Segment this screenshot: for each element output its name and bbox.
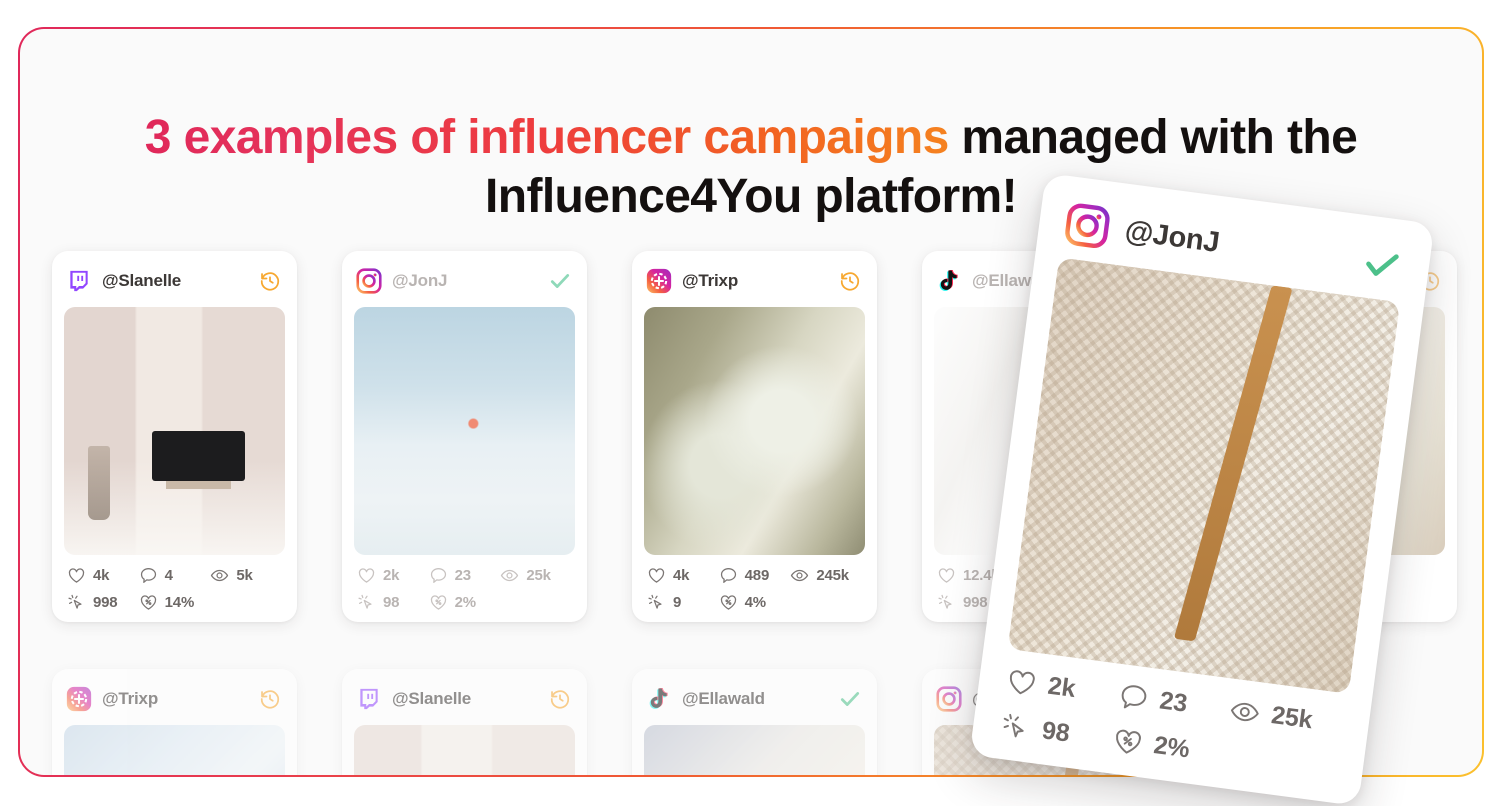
eye-icon [790,566,809,585]
likes-stat: 4k [67,566,139,585]
views-stat-value: 25k [526,567,550,584]
views-stat-value: 25k [1270,701,1315,735]
engagement-rate-icon [139,593,158,612]
influencer-handle: @Trixp [682,271,829,291]
heart-icon [357,566,376,585]
heart-icon [937,566,956,585]
click-icon [67,593,86,612]
card-header: @Ellawald [644,681,865,717]
views-stat: 5k [210,566,282,585]
engagement-rate-icon [1110,725,1145,760]
likes-stat-value: 4k [673,567,689,584]
views-stat-value: 5k [236,567,252,584]
twitch-icon [66,268,92,294]
card-header: @Trixp [644,263,865,299]
comments-stat-value: 4 [165,567,173,584]
click-icon [937,593,956,612]
history-icon [839,270,861,292]
influencer-card[interactable]: @Ellawald [632,669,877,775]
check-icon [1361,243,1404,286]
influencer-handle: @Slanelle [102,271,249,291]
check-icon [839,688,861,710]
comments-stat: 23 [429,566,501,585]
clicks-stat: 98 [357,593,429,612]
likes-stat-value: 2k [1046,672,1077,704]
highlighted-influencer-card[interactable]: @JonJ 2k 23 25k 98 2% [969,173,1434,806]
comments-stat-value: 23 [1158,686,1189,718]
clicks-stat-value: 998 [963,594,987,611]
click-icon [357,593,376,612]
views-stat: 245k [790,566,862,585]
heart-icon [647,566,666,585]
clicks-stat-value: 98 [383,594,399,611]
post-thumbnail[interactable] [64,725,285,775]
card-stats: 4k 4 5k 998 14% [64,566,285,612]
comment-icon [139,566,158,585]
card-stats: 2k 23 25k 98 2% [354,566,575,612]
tiktok-icon [646,686,672,712]
influencer-handle: @Trixp [102,689,249,709]
comments-stat-value: 489 [745,567,769,584]
history-icon [259,270,281,292]
engagement-stat: 2% [429,593,501,612]
comment-icon [429,566,448,585]
card-header: @Trixp [64,681,285,717]
post-thumbnail[interactable] [354,725,575,775]
comments-stat: 4 [139,566,211,585]
click-icon [647,593,666,612]
clicks-stat-value: 9 [673,594,681,611]
likes-stat: 2k [1004,665,1120,710]
engagement-stat: 2% [1110,725,1226,770]
instagram-icon [936,686,962,712]
influencer-card[interactable]: @Trixp [52,669,297,775]
history-icon [259,688,281,710]
engagement-stat-value: 2% [455,594,476,611]
check-icon [549,270,571,292]
likes-stat: 2k [357,566,429,585]
history-icon [549,688,571,710]
influencer-card[interactable]: @Slanelle 4k 4 5k 998 14% [52,251,297,622]
post-thumbnail[interactable] [644,307,865,555]
influencer-handle: @Ellawald [682,689,829,709]
card-stats: 4k 489 245k 9 4% [644,566,865,612]
tiktok-icon [936,268,962,294]
eye-icon [210,566,229,585]
instagram-icon [1063,201,1112,250]
views-stat: 25k [500,566,572,585]
instagram-stories-icon [646,268,672,294]
post-thumbnail[interactable] [354,307,575,555]
comments-stat: 23 [1116,680,1232,725]
heart-icon [1004,665,1039,700]
comment-icon [719,566,738,585]
twitch-icon [356,686,382,712]
engagement-stat-value: 2% [1152,731,1191,764]
card-header: @Slanelle [64,263,285,299]
heart-icon [67,566,86,585]
post-thumbnail[interactable] [64,307,285,555]
instagram-stories-icon [66,686,92,712]
likes-stat: 4k [647,566,719,585]
comments-stat: 489 [719,566,791,585]
clicks-stat: 9 [647,593,719,612]
comment-icon [1116,680,1151,715]
comments-stat-value: 23 [455,567,471,584]
influencer-card[interactable]: @Trixp 4k 489 245k 9 4% [632,251,877,622]
clicks-stat: 98 [998,710,1114,755]
clicks-stat: 998 [67,593,139,612]
clicks-stat-value: 998 [93,594,117,611]
engagement-stat: 14% [139,593,211,612]
influencer-handle: @JonJ [1123,214,1349,276]
engagement-rate-icon [719,593,738,612]
engagement-rate-icon [429,593,448,612]
instagram-icon [356,268,382,294]
influencer-card[interactable]: @JonJ 2k 23 25k 98 2% [342,251,587,622]
views-stat: 25k [1228,695,1344,740]
card-header: @Slanelle [354,681,575,717]
eye-icon [1228,695,1263,730]
clicks-stat-value: 98 [1040,716,1071,748]
card-header: @JonJ [354,263,575,299]
likes-stat-value: 4k [93,567,109,584]
engagement-stat-value: 14% [165,594,194,611]
influencer-handle: @Slanelle [392,689,539,709]
eye-icon [500,566,519,585]
likes-stat-value: 2k [383,567,399,584]
influencer-handle: @JonJ [392,271,539,291]
engagement-stat-value: 4% [745,594,766,611]
page-title-highlight: 3 examples of influencer campaigns [145,111,949,164]
click-icon [998,710,1033,745]
post-thumbnail[interactable] [644,725,865,775]
page-title-line2: Influence4You platform! [485,170,1017,223]
influencer-card[interactable]: @Slanelle [342,669,587,775]
post-thumbnail[interactable] [1008,257,1401,694]
engagement-stat: 4% [719,593,791,612]
views-stat-value: 245k [816,567,849,584]
page-title-rest: managed with the [949,111,1358,164]
